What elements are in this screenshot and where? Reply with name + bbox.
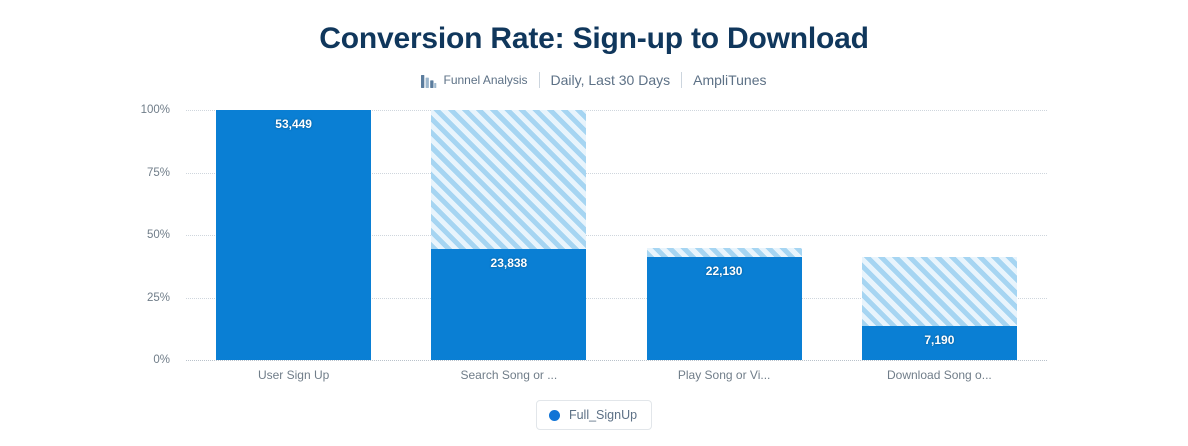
legend-item-full-signup[interactable]: Full_SignUp bbox=[536, 400, 652, 430]
x-axis-tick-label: Play Song or Vi... bbox=[617, 368, 832, 382]
bar-segment-dropoff[interactable] bbox=[862, 257, 1017, 327]
legend-color-swatch-icon bbox=[549, 410, 560, 421]
bar-segment-converted[interactable]: 53,449 bbox=[216, 110, 371, 360]
y-axis-tick-label: 100% bbox=[110, 104, 170, 116]
gridline bbox=[186, 360, 1047, 361]
bar-value-label: 22,130 bbox=[647, 264, 802, 278]
bar-segment-converted[interactable]: 22,130 bbox=[647, 257, 802, 361]
plot-wrapper: 53,44923,83822,1307,190 0%25%50%75%100% … bbox=[0, 0, 1188, 446]
bar-group[interactable]: 22,130 bbox=[647, 248, 802, 360]
x-axis-tick-label: Download Song o... bbox=[832, 368, 1047, 382]
bar-value-label: 7,190 bbox=[862, 333, 1017, 347]
bar-value-label: 53,449 bbox=[216, 117, 371, 131]
x-axis-tick-label: Search Song or ... bbox=[401, 368, 616, 382]
bar-segment-dropoff[interactable] bbox=[431, 110, 586, 249]
plot-area: 53,44923,83822,1307,190 bbox=[186, 110, 1047, 360]
bar-group[interactable]: 53,449 bbox=[216, 110, 371, 360]
bar-segment-converted[interactable]: 23,838 bbox=[431, 249, 586, 361]
y-axis-tick-label: 0% bbox=[110, 354, 170, 366]
bar-value-label: 23,838 bbox=[431, 256, 586, 270]
bar-segment-converted[interactable]: 7,190 bbox=[862, 326, 1017, 360]
y-axis-tick-label: 25% bbox=[110, 292, 170, 304]
bar-segment-dropoff[interactable] bbox=[647, 248, 802, 257]
funnel-conversion-chart: Conversion Rate: Sign-up to Download Fun… bbox=[0, 0, 1188, 446]
legend-item-label: Full_SignUp bbox=[569, 408, 637, 422]
y-axis-tick-label: 50% bbox=[110, 229, 170, 241]
chart-legend: Full_SignUp bbox=[0, 400, 1188, 430]
x-axis-tick-label: User Sign Up bbox=[186, 368, 401, 382]
bar-group[interactable]: 7,190 bbox=[862, 257, 1017, 361]
bar-group[interactable]: 23,838 bbox=[431, 110, 586, 360]
y-axis-tick-label: 75% bbox=[110, 167, 170, 179]
